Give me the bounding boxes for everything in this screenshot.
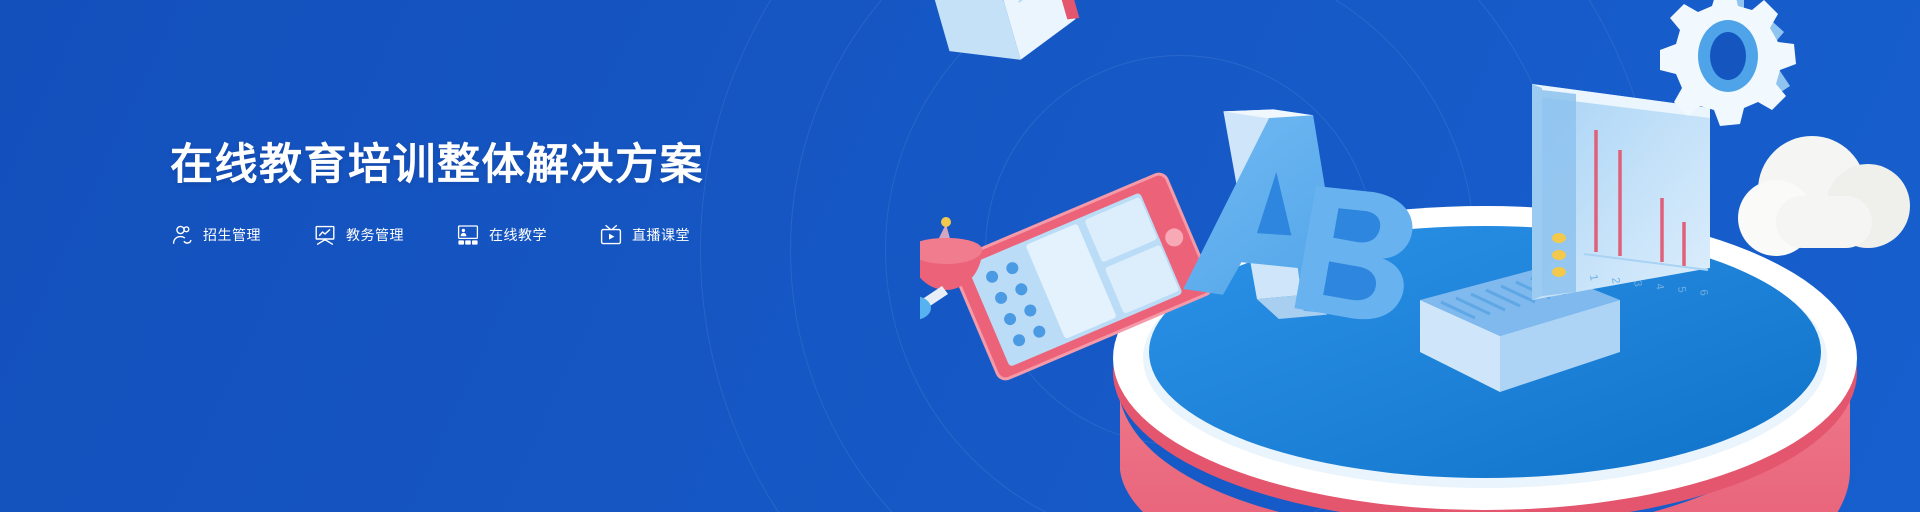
tablet-device	[950, 171, 1214, 381]
spinning-top	[920, 217, 982, 320]
bar-chart-panel	[1532, 84, 1710, 300]
gear	[1660, 0, 1796, 126]
live-tv-play-icon	[599, 223, 623, 247]
hero-banner: 1 2 3 4 5 6	[0, 0, 1920, 512]
decor-ring-inner	[885, 0, 1475, 512]
feature-item-online-teaching[interactable]: 在线教学	[456, 223, 547, 247]
feature-label: 招生管理	[203, 225, 261, 245]
page-title: 在线教育培训整体解决方案	[170, 140, 810, 191]
feature-item-live-classroom[interactable]: 直播课堂	[599, 223, 690, 247]
feature-list: 招生管理 教务管理	[170, 223, 810, 247]
classroom-icon	[456, 223, 480, 247]
chart-bars	[1596, 130, 1684, 266]
svg-text:5: 5	[1675, 286, 1688, 294]
svg-text:6: 6	[1697, 289, 1710, 297]
letter-b-block	[1294, 182, 1419, 326]
cloud-large	[1738, 136, 1910, 256]
feature-label: 直播课堂	[632, 225, 690, 245]
eraser-block	[1420, 268, 1620, 392]
online-education-isometric-illustration: 1 2 3 4 5 6	[920, 0, 1920, 512]
users-icon	[170, 223, 194, 247]
feature-item-enrollment-management[interactable]: 招生管理	[170, 223, 261, 247]
platform-disc	[1113, 206, 1857, 512]
decor-ring-mid	[790, 0, 1570, 512]
feature-label: 在线教学	[489, 225, 547, 245]
status-dots	[1552, 233, 1566, 277]
decor-ring-outer	[700, 0, 1660, 512]
svg-text:3: 3	[1631, 280, 1644, 288]
chart-axis-labels: 1 2 3 4 5 6	[1587, 274, 1710, 297]
feature-item-academic-affairs[interactable]: 教务管理	[313, 223, 404, 247]
floating-book	[924, 0, 1086, 78]
svg-text:4: 4	[1653, 283, 1666, 291]
hero-text-block: 在线教育培训整体解决方案 招生管理	[170, 140, 810, 247]
decor-ring-core	[985, 55, 1375, 445]
feature-label: 教务管理	[346, 225, 404, 245]
svg-text:1: 1	[1587, 274, 1600, 282]
letter-a-block	[1178, 94, 1391, 335]
svg-text:2: 2	[1609, 277, 1622, 285]
presentation-chart-icon	[313, 223, 337, 247]
